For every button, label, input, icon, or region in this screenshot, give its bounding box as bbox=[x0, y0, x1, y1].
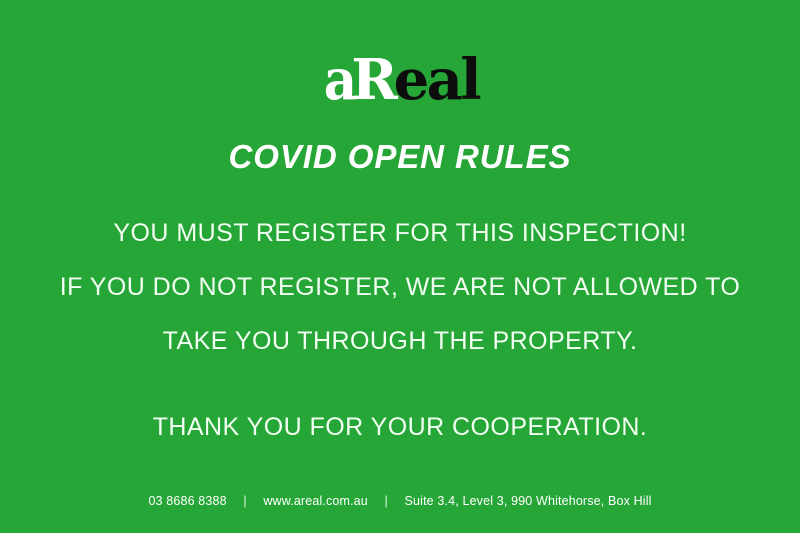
footer-website-text[interactable]: www.areal.com.au bbox=[263, 494, 368, 508]
notice-line-2: IF YOU DO NOT REGISTER, WE ARE NOT ALLOW… bbox=[0, 260, 800, 314]
notice-body: YOU MUST REGISTER FOR THIS INSPECTION! I… bbox=[0, 206, 800, 454]
logo-wordmark: aReal bbox=[321, 52, 479, 108]
footer-phone-text: 03 8686 8388 bbox=[148, 494, 226, 508]
areal-logo: aReal bbox=[321, 36, 479, 108]
notice-line-4: THANK YOU FOR YOUR COOPERATION. bbox=[0, 400, 800, 454]
logo-letters-eal: eal bbox=[394, 52, 480, 108]
footer-separator-1: | bbox=[230, 494, 259, 508]
notice-line-3: TAKE YOU THROUGH THE PROPERTY. bbox=[0, 314, 800, 368]
footer-address-text: Suite 3.4, Level 3, 990 Whitehorse, Box … bbox=[405, 494, 652, 508]
notice-line-1: YOU MUST REGISTER FOR THIS INSPECTION! bbox=[0, 206, 800, 260]
page-title: COVID OPEN RULES bbox=[229, 138, 572, 176]
contact-footer: 03 8686 8388 | www.areal.com.au | Suite … bbox=[0, 494, 800, 508]
footer-separator-2: | bbox=[372, 494, 401, 508]
logo-letter-a: a bbox=[323, 52, 354, 108]
covid-open-rules-poster: aReal COVID OPEN RULES YOU MUST REGISTER… bbox=[0, 0, 800, 533]
logo-letter-r: R bbox=[351, 52, 395, 108]
